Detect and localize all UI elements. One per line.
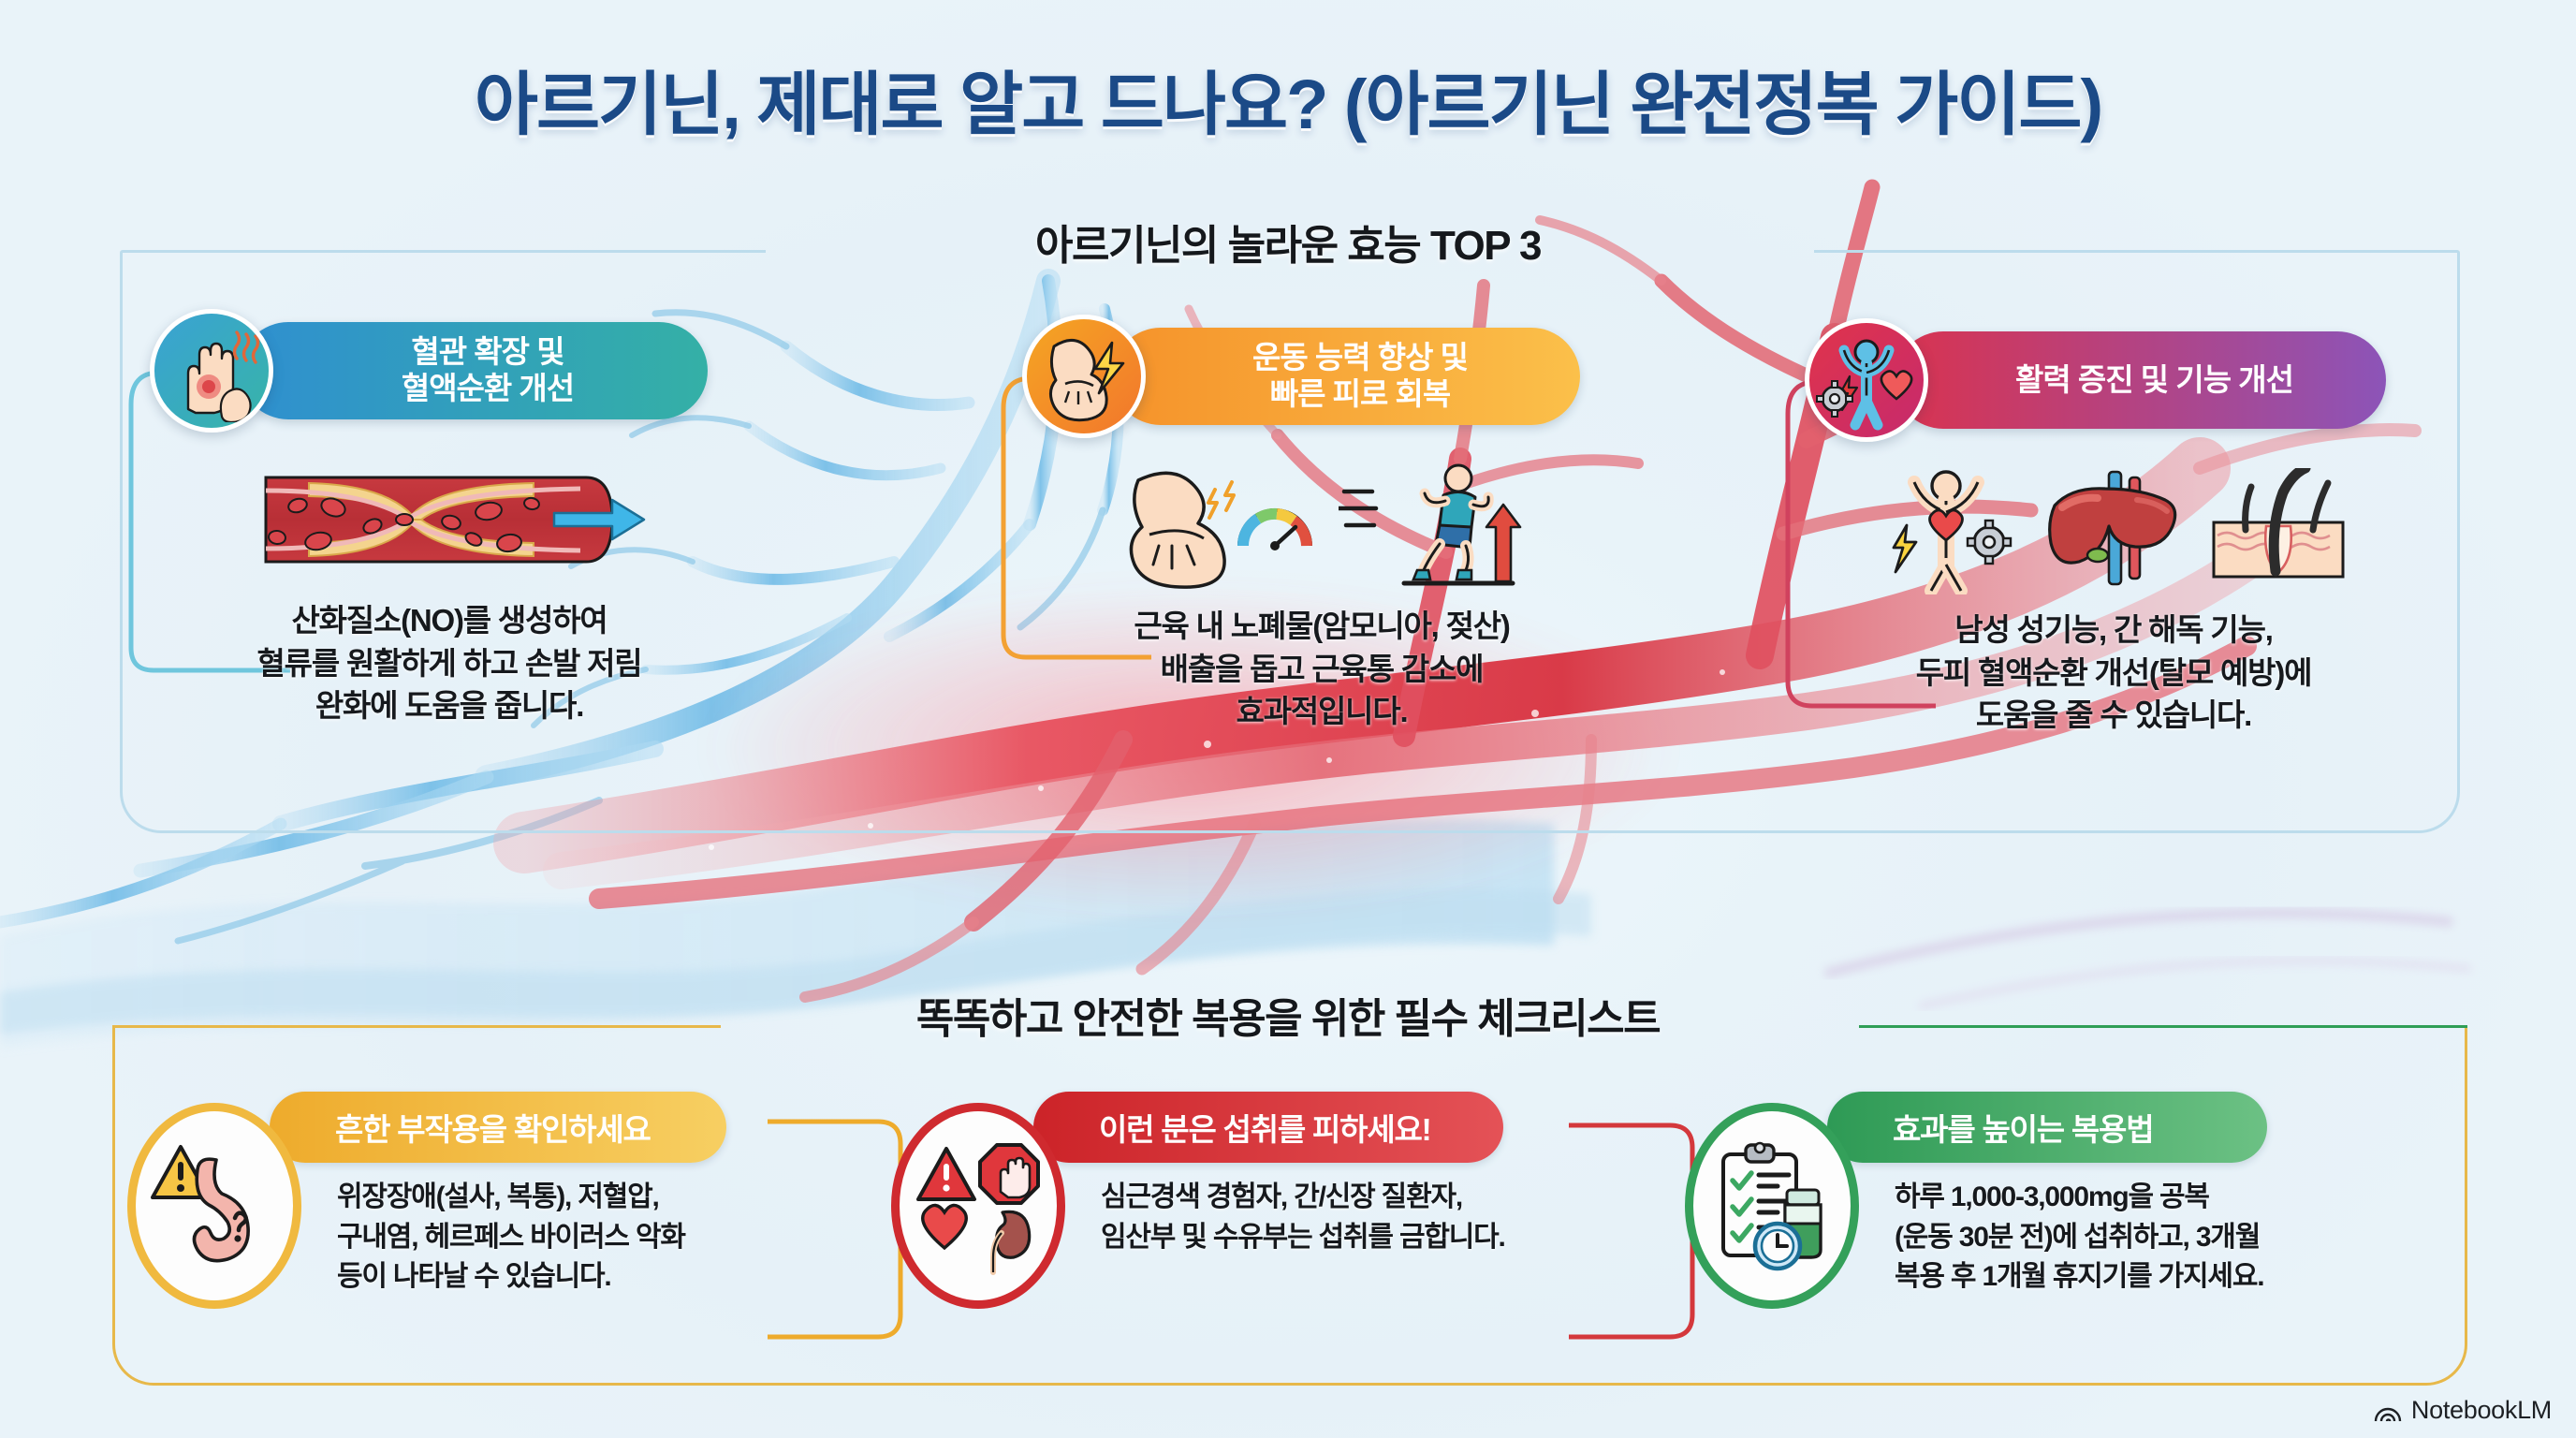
- benefit-badge-row-vessel: 혈관 확장 및 혈액순환 개선: [150, 309, 749, 433]
- checklist-pill-how-to-take: 효과를 높이는 복용법: [1827, 1092, 2267, 1163]
- runner-up-arrow-icon: [1339, 460, 1526, 591]
- benefit-badge-label-vitality: 활력 증진 및 기능 개선: [1895, 331, 2386, 429]
- checklist-text-block-avoid: 이런 분은 섭취를 피하세요! 심근경색 경험자, 간/신장 질환자, 임산부 …: [1033, 1086, 1505, 1257]
- checklist-text-block-side-effects: 흔한 부작용을 확인하세요 위장장애(설사, 복통), 저혈압, 구내염, 헤르…: [270, 1086, 726, 1298]
- benefit-card-vitality: 활력 증진 및 기능 개선: [1805, 318, 2422, 737]
- benefit-illustration-vitality: [1805, 459, 2422, 599]
- hand-foot-tingling-icon: [150, 309, 273, 433]
- blood-vessel-cross-section-icon: [253, 459, 646, 580]
- benefit-badge-row-exercise: 운동 능력 향상 및 빠른 피로 회복: [1022, 315, 1621, 438]
- notebooklm-watermark-label: NotebookLM: [2411, 1396, 2552, 1425]
- checklist-text-block-how-to-take: 효과를 높이는 복용법 하루 1,000-3,000mg을 공복 (운동 30분…: [1827, 1086, 2267, 1298]
- benefit-badge-label-exercise: 운동 능력 향상 및 빠른 피로 회복: [1112, 328, 1580, 425]
- warning-stomach-question-icon: [127, 1103, 301, 1309]
- checklist-card-how-to-take: 효과를 높이는 복용법 하루 1,000-3,000mg을 공복 (운동 30분…: [1685, 1086, 2267, 1309]
- benefits-section-header: 아르기닌의 놀라운 효능 TOP 3: [1035, 212, 1541, 271]
- checklist-body-avoid: 심근경색 경험자, 간/신장 질환자, 임산부 및 수유부는 섭취를 금합니다.: [1033, 1178, 1505, 1257]
- benefit-illustration-exercise: [1022, 455, 1621, 595]
- checklist-pill-side-effects: 흔한 부작용을 확인하세요: [270, 1092, 726, 1163]
- warning-stop-heart-kidney-icon: [891, 1103, 1065, 1309]
- flexing-bicep-lightning-icon: [1022, 315, 1146, 438]
- vitality-person-icon: [1879, 463, 2019, 594]
- benefit-card-vessel: 혈관 확장 및 혈액순환 개선: [150, 309, 749, 727]
- clipboard-checklist-bottle-clock-icon: [1685, 1103, 1859, 1309]
- checklist-body-how-to-take: 하루 1,000-3,000mg을 공복 (운동 30분 전)에 섭취하고, 3…: [1827, 1178, 2267, 1298]
- strong-person-heart-gear-icon: [1805, 318, 1928, 442]
- benefit-badge-row-vitality: 활력 증진 및 기능 개선: [1805, 318, 2422, 442]
- benefit-illustration-vessel: [150, 449, 749, 590]
- benefit-card-exercise: 운동 능력 향상 및 빠른 피로 회복: [1022, 315, 1621, 733]
- benefit-body-vessel: 산화질소(NO)를 생성하여 혈류를 원활하게 하고 손발 저림 완화에 도움을…: [150, 599, 749, 727]
- page-title: 아르기닌, 제대로 알고 드나요? (아르기닌 완전정복 가이드): [0, 49, 2576, 149]
- benefit-body-vitality: 남성 성기능, 간 해독 기능, 두피 혈액순환 개선(탈모 예방)에 도움을 …: [1805, 609, 2422, 737]
- benefit-body-exercise: 근육 내 노폐물(암모니아, 젖산) 배출을 돕고 근육통 감소에 효과적입니다…: [1022, 605, 1621, 733]
- notebooklm-logo-icon: [2374, 1399, 2402, 1423]
- checklist-card-avoid: 이런 분은 섭취를 피하세요! 심근경색 경험자, 간/신장 질환자, 임산부 …: [891, 1086, 1505, 1309]
- benefit-badge-label-vessel: 혈관 확장 및 혈액순환 개선: [240, 322, 708, 419]
- notebooklm-watermark: NotebookLM: [2374, 1396, 2552, 1425]
- hair-follicle-icon: [2208, 468, 2349, 590]
- infographic-canvas: 아르기닌, 제대로 알고 드나요? (아르기닌 완전정복 가이드) 아르기닌의 …: [0, 0, 2576, 1438]
- connector-side-effects: [768, 1116, 908, 1359]
- checklist-section-header: 똑똑하고 안전한 복용을 위한 필수 체크리스트: [916, 985, 1660, 1045]
- checklist-pill-avoid: 이런 분은 섭취를 피하세요!: [1033, 1092, 1503, 1163]
- connector-avoid: [1569, 1120, 1700, 1354]
- checklist-body-side-effects: 위장장애(설사, 복통), 저혈압, 구내염, 헤르페스 바이러스 악화 등이 …: [270, 1178, 726, 1298]
- checklist-card-side-effects: 흔한 부작용을 확인하세요 위장장애(설사, 복통), 저혈압, 구내염, 헤르…: [127, 1086, 726, 1309]
- bicep-gauge-icon: [1118, 460, 1314, 591]
- liver-icon: [2043, 468, 2184, 590]
